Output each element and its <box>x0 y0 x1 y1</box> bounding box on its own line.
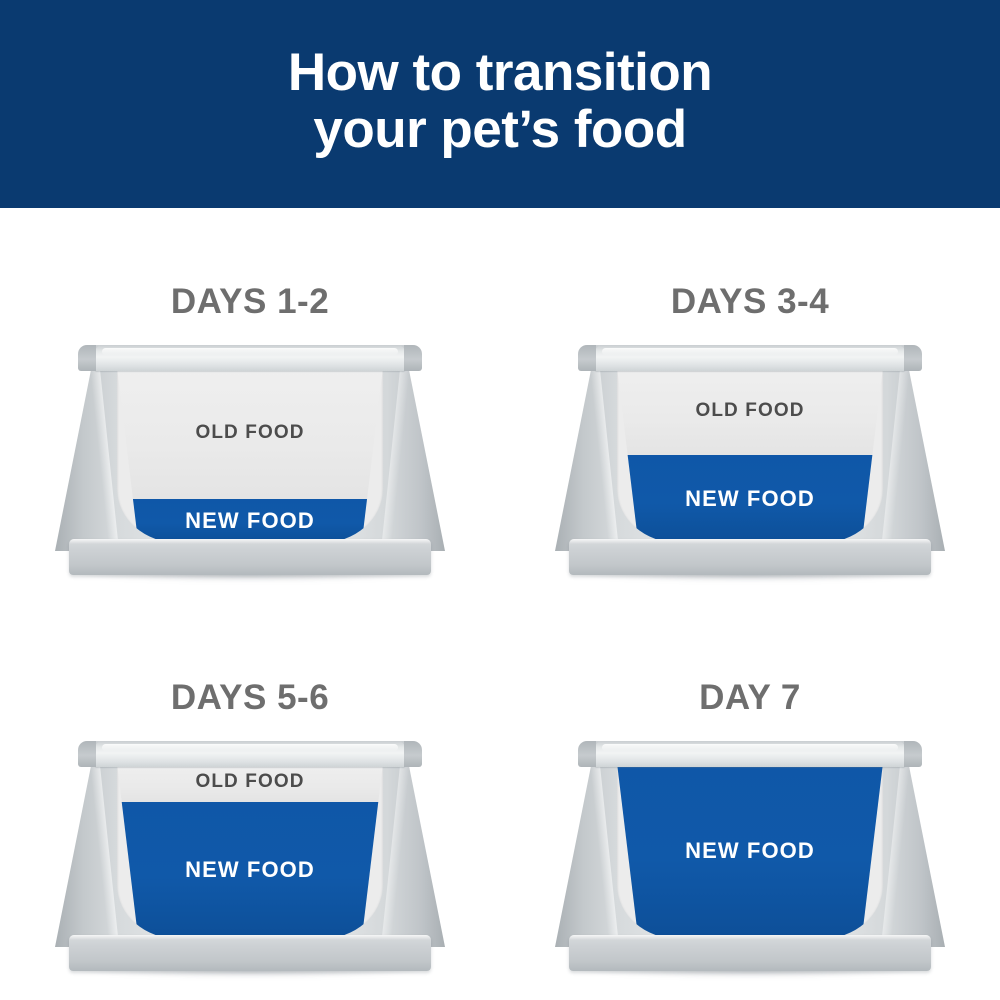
bowl-rim <box>594 345 906 371</box>
old-food-layer: OLD FOOD <box>117 763 383 802</box>
bowl-illustration-days-5-6: OLD FOOD NEW FOOD <box>55 741 445 981</box>
new-food-label: NEW FOOD <box>685 838 815 864</box>
step-heading-days-5-6: DAYS 5-6 <box>171 604 329 715</box>
bowl-rim-cap-left <box>578 741 596 767</box>
bowl-cavity: OLD FOOD NEW FOOD <box>117 367 383 543</box>
bowl-cavity: NEW FOOD <box>617 763 883 939</box>
step-heading-days-3-4: DAYS 3-4 <box>671 208 829 319</box>
bowl-cavity-inner: OLD FOOD NEW FOOD <box>617 367 883 543</box>
bowl-cavity: OLD FOOD NEW FOOD <box>617 367 883 543</box>
new-food-layer: NEW FOOD <box>617 763 883 939</box>
bowl-cavity-inner: OLD FOOD NEW FOOD <box>117 367 383 543</box>
step-card-days-5-6: DAYS 5-6 OLD FOOD NEW FOOD <box>0 604 500 1000</box>
step-card-day-7: DAY 7 NEW FOOD <box>500 604 1000 1000</box>
bowl-base <box>69 935 431 971</box>
bowl-base <box>569 935 931 971</box>
page-title: How to transition your pet’s food <box>288 44 712 158</box>
bowl-rim-cap-right <box>904 741 922 767</box>
new-food-layer: NEW FOOD <box>117 802 383 939</box>
bowl-rim-cap-left <box>78 345 96 371</box>
new-food-label: NEW FOOD <box>685 486 815 512</box>
bowl-cavity-inner: OLD FOOD NEW FOOD <box>117 763 383 939</box>
bowl-illustration-days-3-4: OLD FOOD NEW FOOD <box>555 345 945 585</box>
new-food-label: NEW FOOD <box>185 857 315 883</box>
bowl-rim-cap-right <box>404 345 422 371</box>
step-card-days-3-4: DAYS 3-4 OLD FOOD NEW FOOD <box>500 208 1000 604</box>
old-food-layer: OLD FOOD <box>117 367 383 499</box>
new-food-layer: NEW FOOD <box>617 455 883 543</box>
bowl-illustration-day-7: NEW FOOD <box>555 741 945 981</box>
old-food-layer: OLD FOOD <box>617 367 883 455</box>
bowl-rim <box>594 741 906 767</box>
bowl-base <box>69 539 431 575</box>
new-food-layer: NEW FOOD <box>117 499 383 543</box>
step-card-days-1-2: DAYS 1-2 OLD FOOD NEW FOOD <box>0 208 500 604</box>
bowl-rim <box>94 345 406 371</box>
header-banner: How to transition your pet’s food <box>0 0 1000 208</box>
bowl-cavity-inner: NEW FOOD <box>617 763 883 939</box>
bowl-rim-cap-right <box>904 345 922 371</box>
new-food-label: NEW FOOD <box>185 508 315 534</box>
bowl-rim-cap-left <box>78 741 96 767</box>
page-title-line-1: How to transition <box>288 44 712 101</box>
step-heading-day-7: DAY 7 <box>699 604 801 715</box>
bowl-cavity: OLD FOOD NEW FOOD <box>117 763 383 939</box>
bowl-illustration-days-1-2: OLD FOOD NEW FOOD <box>55 345 445 585</box>
bowl-rim-cap-left <box>578 345 596 371</box>
old-food-label: OLD FOOD <box>195 422 304 444</box>
step-heading-days-1-2: DAYS 1-2 <box>171 208 329 319</box>
bowl-rim-cap-right <box>404 741 422 767</box>
page-title-line-2: your pet’s food <box>288 101 712 158</box>
infographic-page: How to transition your pet’s food DAYS 1… <box>0 0 1000 1000</box>
bowl-base <box>569 539 931 575</box>
old-food-label: OLD FOOD <box>695 400 804 422</box>
steps-grid: DAYS 1-2 OLD FOOD NEW FOOD <box>0 208 1000 1000</box>
old-food-label: OLD FOOD <box>195 771 304 793</box>
bowl-rim <box>94 741 406 767</box>
